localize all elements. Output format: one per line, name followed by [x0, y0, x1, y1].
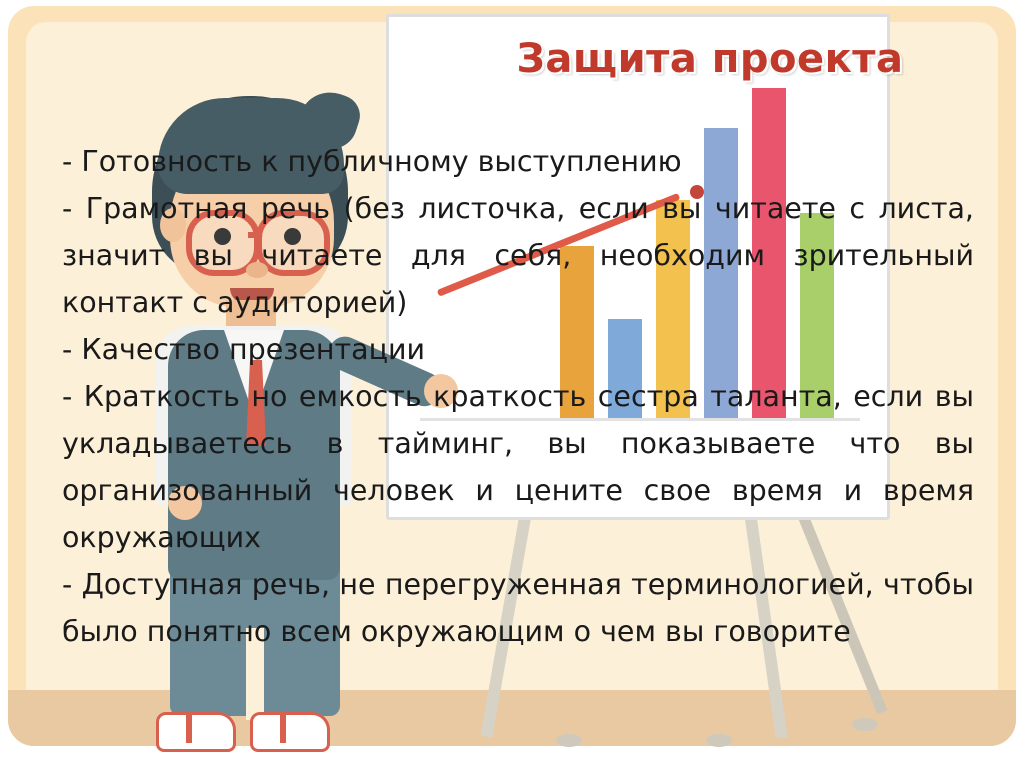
character-left-shoe [156, 712, 236, 752]
character-right-shoe [250, 712, 330, 752]
slide-body: - Готовность к публичному выступлению - … [62, 138, 974, 655]
slide-canvas: Защита проекта - Готовность к публичному… [0, 0, 1024, 767]
bullet-line-4: - Краткость но емкость краткость сестра … [62, 373, 974, 561]
bullet-line-5: - Доступная речь, не перегруженная терми… [62, 561, 974, 655]
left-shoe-stripe [186, 715, 192, 743]
bullet-line-1: - Готовность к публичному выступлению [62, 138, 974, 185]
easel-back-foot [852, 718, 878, 731]
slide-title: Защита проекта [410, 36, 1010, 82]
easel-right-foot [706, 734, 732, 747]
right-shoe-stripe [280, 715, 286, 743]
easel-left-foot [556, 734, 582, 747]
bullet-line-3: - Качество презентации [62, 326, 974, 373]
bullet-line-2: - Грамотная речь (без листочка, если вы … [62, 185, 974, 326]
